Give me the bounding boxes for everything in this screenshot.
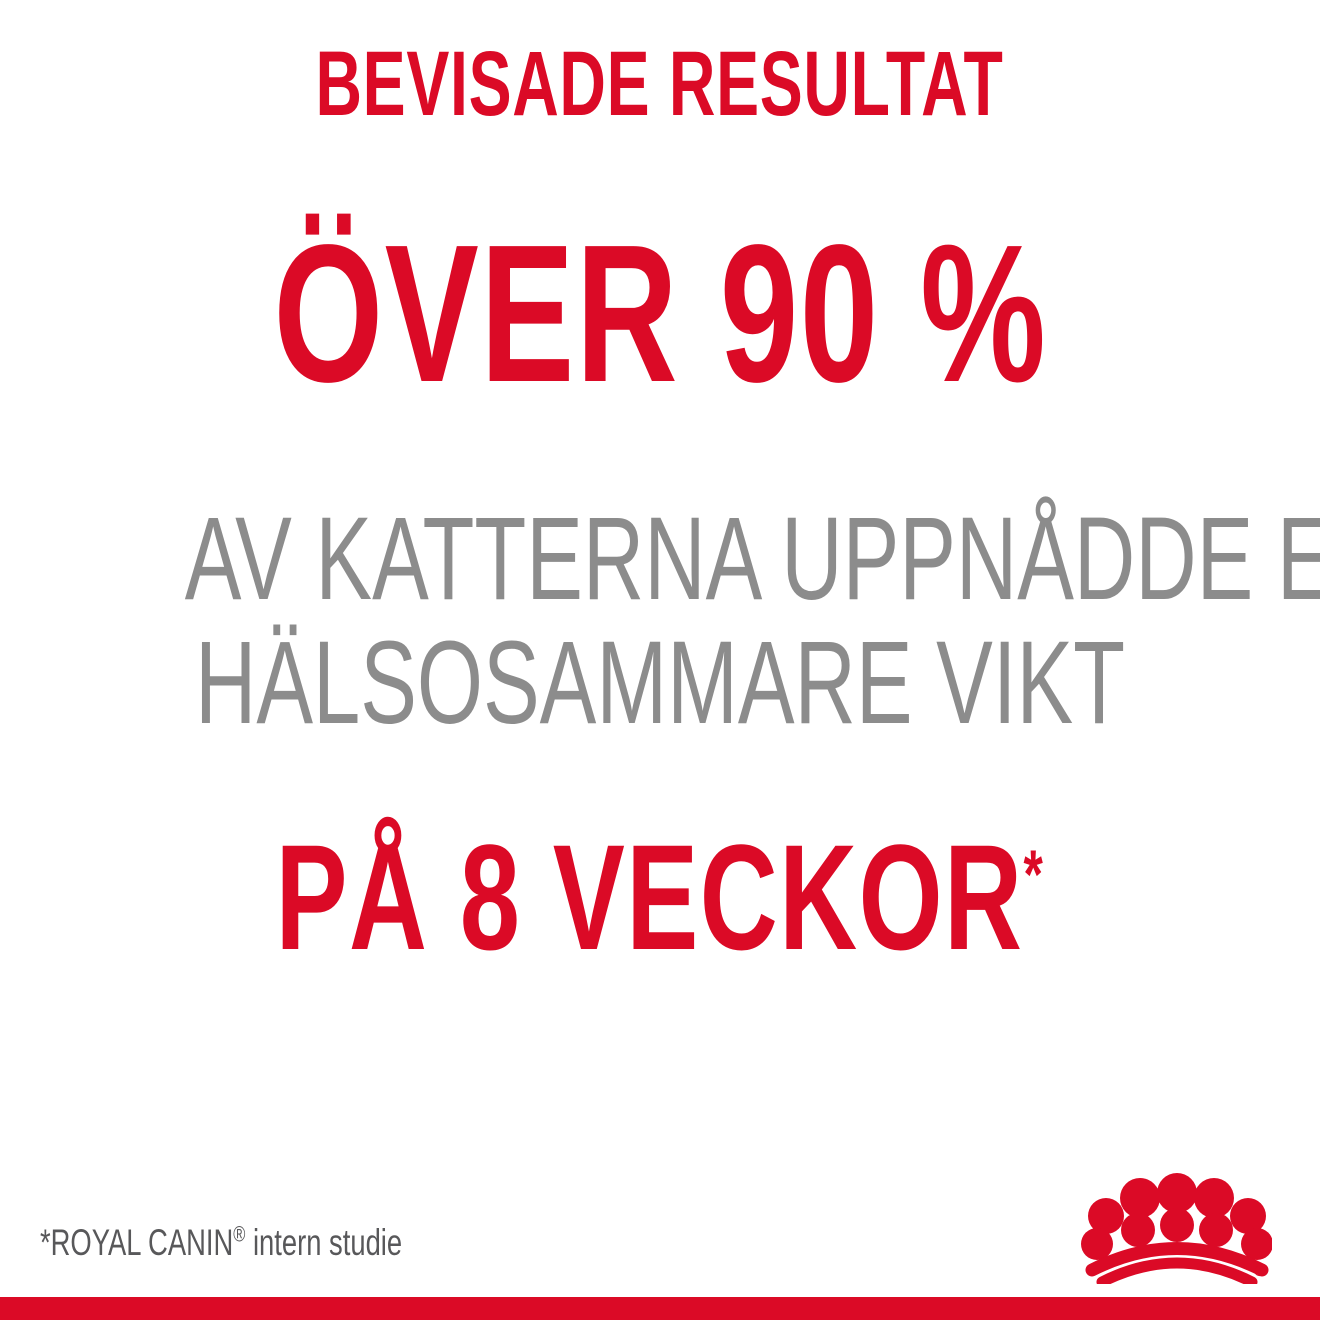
crown-dot-mid-3 <box>1160 1208 1194 1242</box>
crown-arcs <box>1092 1249 1262 1283</box>
body-copy-container: AV KATTERNA UPPNÅDDE EN HÄLSOSAMMARE VIK… <box>0 500 1320 742</box>
kicker-line: PÅ 8 VECKOR* <box>276 822 1045 972</box>
body-copy-line-1: AV KATTERNA UPPNÅDDE EN <box>185 500 1135 618</box>
footnote: *ROYAL CANIN® intern studie <box>40 1222 402 1264</box>
crown-dot-top-2 <box>1120 1178 1160 1218</box>
royal-canin-crown-logo: ® <box>1076 1172 1272 1284</box>
footnote-registered-mark: ® <box>233 1222 245 1247</box>
headline-stat-container: ÖVER 90 % <box>0 216 1320 412</box>
bottom-brand-bar <box>0 1297 1320 1320</box>
logo-registered-mark: ® <box>1254 1263 1265 1280</box>
footnote-brand: ROYAL CANIN <box>51 1222 234 1263</box>
headline-stat: ÖVER 90 % <box>273 216 1047 412</box>
crown-dot-top-3 <box>1157 1173 1197 1213</box>
crown-dot-mid-1 <box>1081 1228 1113 1260</box>
crown-dot-mid-2 <box>1121 1213 1155 1247</box>
crown-dot-mid-5 <box>1241 1228 1272 1260</box>
crown-dot-top-4 <box>1194 1178 1234 1218</box>
eyebrow-heading: BEVISADE RESULTAT <box>316 38 1004 130</box>
kicker-text: PÅ 8 VECKOR <box>276 813 1024 981</box>
body-copy-line-2: HÄLSOSAMMARE VIKT <box>185 624 1135 742</box>
eyebrow-heading-container: BEVISADE RESULTAT <box>0 38 1320 130</box>
poster-canvas: BEVISADE RESULTAT ÖVER 90 % AV KATTERNA … <box>0 0 1320 1320</box>
crown-arc-lower <box>1102 1263 1252 1282</box>
crown-dot-mid-4 <box>1199 1213 1233 1247</box>
footnote-rest: intern studie <box>245 1222 402 1263</box>
kicker-container: PÅ 8 VECKOR* <box>0 822 1320 972</box>
footnote-marker: * <box>40 1222 51 1263</box>
kicker-footnote-marker: * <box>1024 836 1045 913</box>
